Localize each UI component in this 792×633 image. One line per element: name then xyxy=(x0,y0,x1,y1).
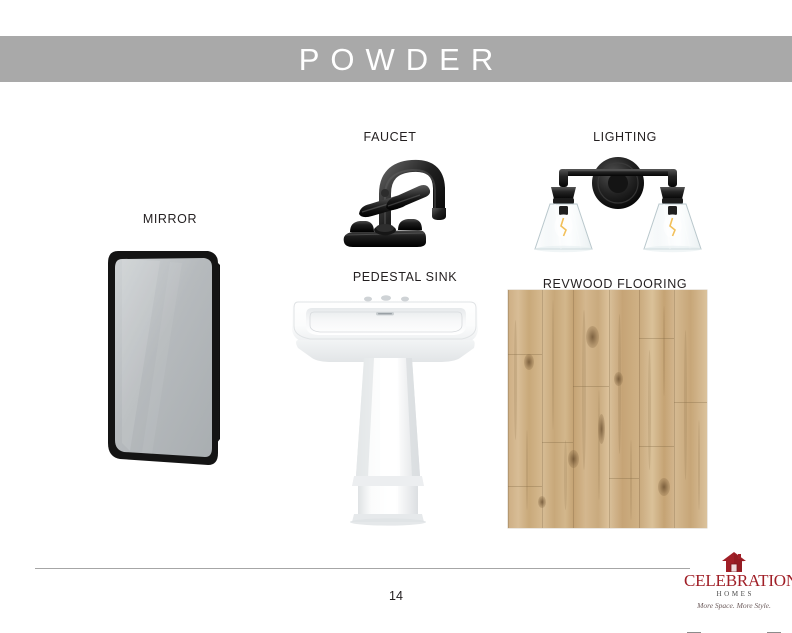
logo-wordmark: CELEBRATION xyxy=(684,572,784,589)
logo-tagline: More Space. More Style. xyxy=(684,602,784,610)
vanity-light-icon xyxy=(523,146,713,258)
slide-header-band: POWDER xyxy=(0,36,792,82)
pedestal-sink-icon xyxy=(288,288,484,528)
footer-divider xyxy=(35,568,690,569)
brand-logo: CELEBRATION HOMES More Space. More Style… xyxy=(684,552,784,606)
faucet-image xyxy=(322,150,482,255)
red-house-logo-icon xyxy=(721,552,747,572)
page-number: 14 xyxy=(356,589,436,603)
mirror-icon xyxy=(100,243,230,471)
faucet-icon xyxy=(322,150,482,255)
item-label-lighting: LIGHTING xyxy=(555,130,695,144)
page-title: POWDER xyxy=(288,44,505,75)
flooring-swatch-image xyxy=(508,290,707,528)
logo-subword: HOMES xyxy=(684,591,784,598)
item-label-revwood-flooring: REVWOOD FLOORING xyxy=(515,277,715,291)
item-label-pedestal-sink: PEDESTAL SINK xyxy=(320,270,490,284)
pedestal-sink-image xyxy=(288,288,484,528)
lighting-image xyxy=(523,146,713,258)
mirror-image xyxy=(100,243,230,471)
item-label-mirror: MIRROR xyxy=(105,212,235,226)
item-label-faucet: FAUCET xyxy=(325,130,455,144)
